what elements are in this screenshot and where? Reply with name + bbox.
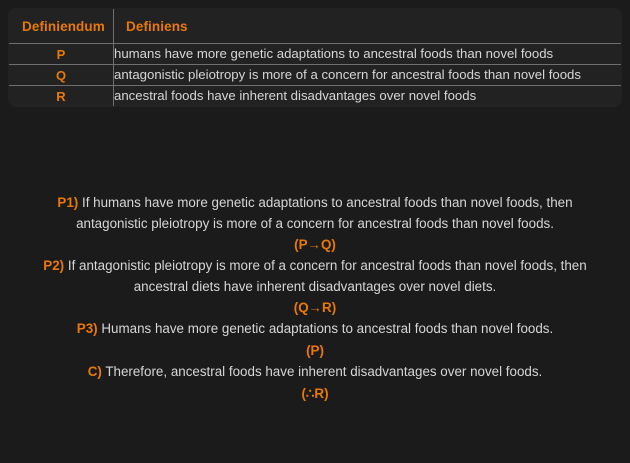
column-header-definiens-label: Definiens <box>114 9 621 43</box>
argument-step-p2-text: If antagonistic pleiotropy is more of a … <box>68 258 587 294</box>
argument-step-p2: P2) If antagonistic pleiotropy is more o… <box>0 256 630 318</box>
argument-step-conclusion-label: C) <box>88 364 102 379</box>
definiens-p: humans have more genetic adaptations to … <box>114 44 622 65</box>
column-header-definiens: Definiens <box>114 9 622 44</box>
argument-step-p2-line: P2) If antagonistic pleiotropy is more o… <box>0 256 630 297</box>
definition-table-container: Definiendum Definiens P humans have more… <box>8 8 622 107</box>
definiendum-q: Q <box>9 65 114 86</box>
argument-step-p3-text: Humans have more genetic adaptations to … <box>101 321 553 336</box>
definition-table: Definiendum Definiens P humans have more… <box>8 8 622 107</box>
table-header-row: Definiendum Definiens <box>9 9 622 44</box>
definition-table-header: Definiendum Definiens <box>9 9 622 44</box>
argument-step-p1-line: P1) If humans have more genetic adaptati… <box>0 193 630 234</box>
argument-block: P1) If humans have more genetic adaptati… <box>0 193 630 405</box>
argument-step-p1-formula: (P→Q) <box>0 234 630 255</box>
argument-step-p2-formula: (Q→R) <box>0 297 630 318</box>
table-row: Q antagonistic pleiotropy is more of a c… <box>9 65 622 86</box>
argument-step-p1-label: P1) <box>57 195 78 210</box>
definiens-r: ancestral foods have inherent disadvanta… <box>114 86 622 107</box>
argument-page: Definiendum Definiens P humans have more… <box>0 0 630 463</box>
table-row: R ancestral foods have inherent disadvan… <box>9 86 622 107</box>
definiendum-p: P <box>9 44 114 65</box>
argument-step-p3-label: P3) <box>77 321 98 336</box>
definiendum-r: R <box>9 86 114 107</box>
argument-step-p3: P3) Humans have more genetic adaptations… <box>0 319 630 361</box>
argument-step-p2-label: P2) <box>43 258 64 273</box>
definition-table-body: P humans have more genetic adaptations t… <box>9 44 622 107</box>
argument-step-p3-line: P3) Humans have more genetic adaptations… <box>0 319 630 340</box>
argument-step-conclusion: C) Therefore, ancestral foods have inher… <box>0 362 630 404</box>
argument-step-p1-text: If humans have more genetic adaptations … <box>76 195 573 231</box>
table-row: P humans have more genetic adaptations t… <box>9 44 622 65</box>
argument-step-conclusion-formula: (∴R) <box>0 383 630 404</box>
definiens-q: antagonistic pleiotropy is more of a con… <box>114 65 622 86</box>
column-header-definiendum-label: Definiendum <box>9 9 113 43</box>
argument-step-conclusion-line: C) Therefore, ancestral foods have inher… <box>0 362 630 383</box>
argument-step-p3-formula: (P) <box>0 340 630 361</box>
argument-step-conclusion-text: Therefore, ancestral foods have inherent… <box>105 364 542 379</box>
column-header-definiendum: Definiendum <box>9 9 114 44</box>
argument-step-p1: P1) If humans have more genetic adaptati… <box>0 193 630 255</box>
